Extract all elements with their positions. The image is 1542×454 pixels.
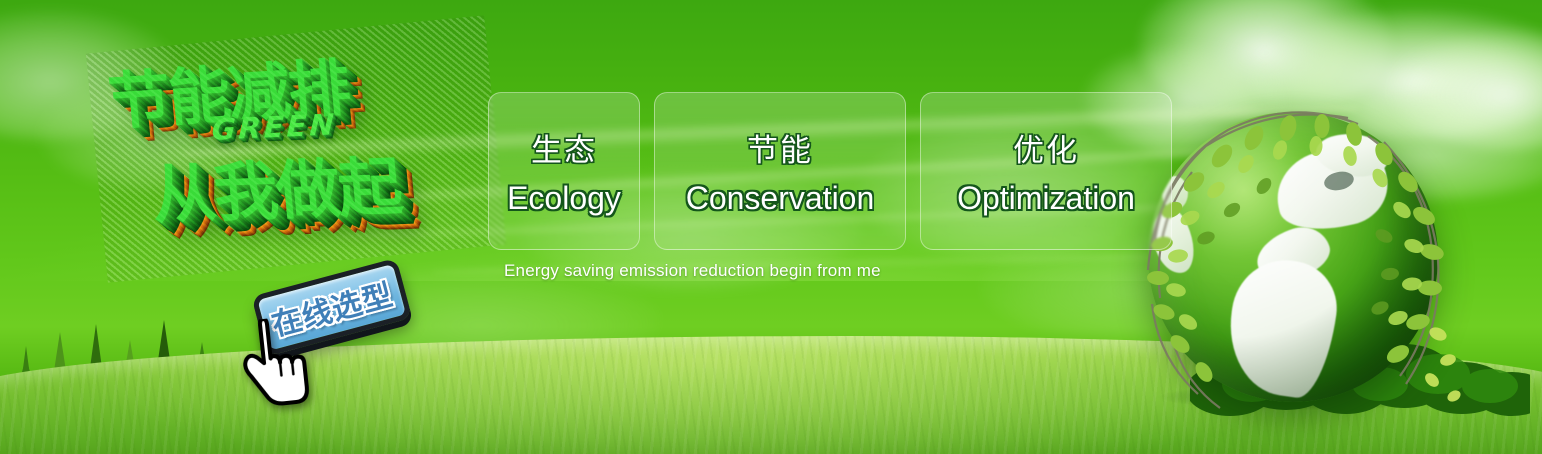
cloud-icon bbox=[0, 10, 180, 140]
eco-globe bbox=[1148, 112, 1448, 412]
feature-card-en-label: Conservation bbox=[686, 180, 875, 217]
headline-accent: GREEN bbox=[211, 107, 338, 147]
feature-card-cn-label: 节能 bbox=[747, 125, 813, 170]
feature-card-ecology[interactable]: 生态 Ecology bbox=[488, 92, 640, 250]
banner-tagline: Energy saving emission reduction begin f… bbox=[504, 261, 881, 281]
feature-card-cn-label: 生态 bbox=[531, 125, 597, 170]
feature-card-conservation[interactable]: 节能 Conservation bbox=[654, 92, 906, 250]
hand-pointer-icon bbox=[234, 314, 317, 409]
feature-card-en-label: Ecology bbox=[507, 180, 621, 217]
eco-promo-banner: 节能减排 GREEN 从我做起 在线选型 生态 Ecology 节能 Conse… bbox=[0, 0, 1542, 454]
feature-cards: 生态 Ecology 节能 Conservation 优化 Optimizati… bbox=[488, 92, 1172, 250]
feature-card-cn-label: 优化 bbox=[1013, 125, 1079, 170]
cloud-icon bbox=[40, 80, 280, 190]
headline-line-2: 从我做起 bbox=[147, 136, 404, 236]
feature-card-optimization[interactable]: 优化 Optimization bbox=[920, 92, 1172, 250]
vine-overlay bbox=[1132, 98, 1462, 424]
feature-card-en-label: Optimization bbox=[957, 180, 1135, 217]
headline-texture bbox=[86, 15, 506, 282]
headline-line-1: 节能减排 bbox=[104, 37, 352, 141]
headline-3d: 节能减排 GREEN 从我做起 bbox=[86, 15, 506, 282]
